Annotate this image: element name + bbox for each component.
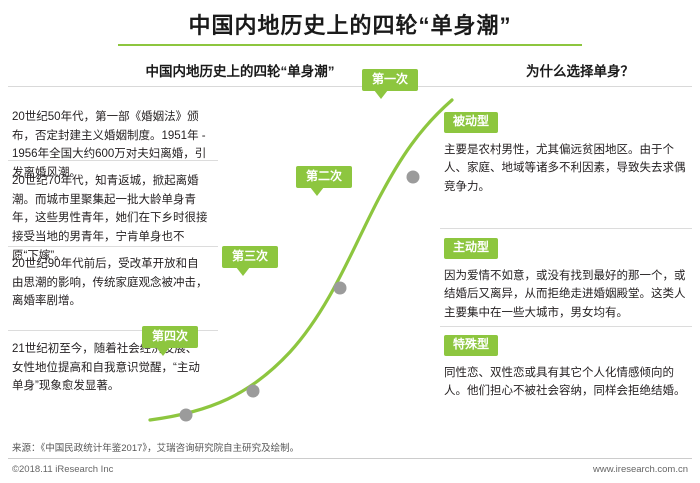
source-note: 来源：《中国民政统计年鉴2017》，艾瑞咨询研究院自主研究及绘制。	[12, 440, 299, 454]
title-wrapper: 中国内地历史上的四轮“单身潮”	[0, 8, 700, 40]
wave-callout-4: 第四次	[142, 326, 198, 348]
wave-callout-2: 第二次	[296, 166, 352, 188]
reason-text-2: 因为爱情不如意，或没有找到最好的那一个，或结婚后又离异，从而拒绝走进婚姻殿堂。这…	[444, 267, 694, 323]
wave-text-3: 20世纪90年代前后，受改革开放和自由思潮的影响，传统家庭观念被冲击，离婚率剧增…	[12, 255, 208, 311]
reason-section-1: 被动型 主要是农村男性，尤其偏远贫困地区。由于个人、家庭、地域等诸多不利因素，导…	[444, 112, 694, 197]
reason-text-1: 主要是农村男性，尤其偏远贫困地区。由于个人、家庭、地域等诸多不利因素，导致失去求…	[444, 141, 694, 197]
reason-tag-2: 主动型	[444, 238, 498, 259]
callout-tail-1	[374, 90, 388, 99]
callout-tail-2	[310, 187, 324, 196]
reason-tag-1: 被动型	[444, 112, 498, 133]
copyright-text: ©2018.11 iResearch Inc	[12, 464, 113, 475]
wave-callout-label-4: 第四次	[152, 329, 188, 343]
website-text: www.iresearch.com.cn	[593, 464, 688, 475]
wave-callout-label-3: 第三次	[232, 249, 268, 263]
footer-divider	[8, 458, 692, 459]
page-title: 中国内地历史上的四轮“单身潮”	[188, 8, 511, 40]
reason-text-3: 同性恋、双性恋或具有其它个人化情感倾向的人。他们担心不被社会容纳，同样会拒绝结婚…	[444, 364, 694, 401]
right-divider-1	[440, 228, 692, 229]
wave-callout-1: 第一次	[362, 69, 418, 91]
infographic-page: 中国内地历史上的四轮“单身潮” 中国内地历史上的四轮“单身潮” 为什么选择单身？…	[0, 0, 700, 483]
callout-tail-3	[236, 267, 250, 276]
title-underline	[118, 44, 582, 46]
wave-text-4: 21世纪初至今，随着社会经济发展、女性地位提高和自我意识觉醒，“主动单身”现象愈…	[12, 340, 208, 396]
right-divider-2	[440, 326, 692, 327]
callout-tail-4	[156, 347, 170, 356]
reason-section-2: 主动型 因为爱情不如意，或没有找到最好的那一个，或结婚后又离异，从而拒绝走进婚姻…	[444, 238, 694, 323]
reason-section-3: 特殊型 同性恋、双性恋或具有其它个人化情感倾向的人。他们担心不被社会容纳，同样会…	[444, 335, 694, 401]
wave-text-2: 20世纪70年代，知青返城，掀起离婚潮。而城市里聚集起一批大龄单身青年，这些男性…	[12, 172, 208, 265]
wave-callout-3: 第三次	[222, 246, 278, 268]
wave-callout-label-1: 第一次	[372, 72, 408, 86]
reason-tag-3: 特殊型	[444, 335, 498, 356]
wave-callout-label-2: 第二次	[306, 169, 342, 183]
